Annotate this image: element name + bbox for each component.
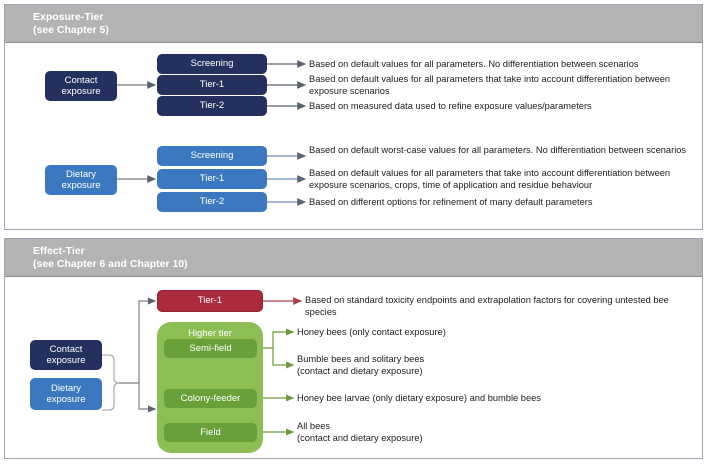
dietary-tier1-box[interactable]: Tier-1 — [157, 169, 267, 189]
contact-tier1-description: Based on default values for all paramete… — [309, 73, 701, 97]
effect-contact-exposure-box[interactable]: Contact exposure — [30, 340, 102, 370]
effect-tier-title: Effect-Tier — [33, 245, 188, 258]
semi-field-output-bumble-solitary-line2: (contact and dietary exposure) — [297, 365, 693, 377]
semi-field-label: Semi-field — [189, 343, 231, 355]
colony-feeder-box[interactable]: Colony-feeder — [164, 389, 257, 408]
colony-feeder-output: Honey bee larvae (only dietary exposure)… — [297, 392, 693, 404]
contact-tier2-box[interactable]: Tier-2 — [157, 96, 267, 116]
contact-exposure-label: Contact exposure — [61, 75, 100, 98]
colony-feeder-label: Colony-feeder — [181, 393, 241, 405]
semi-field-output-bumble-solitary: Bumble bees and solitary bees (contact a… — [297, 353, 693, 377]
field-box[interactable]: Field — [164, 423, 257, 442]
exposure-tier-header-text: Exposure-Tier (see Chapter 5) — [33, 11, 109, 37]
contact-exposure-box[interactable]: Contact exposure — [45, 71, 117, 101]
effect-tier-header: Effect-Tier (see Chapter 6 and Chapter 1… — [5, 239, 702, 277]
dietary-tier1-description: Based on default values for all paramete… — [309, 167, 701, 191]
dietary-exposure-box[interactable]: Dietary exposure — [45, 165, 117, 195]
effect-contact-exposure-label: Contact exposure — [46, 344, 85, 367]
contact-screening-box[interactable]: Screening — [157, 54, 267, 74]
dietary-screening-description: Based on default worst-case values for a… — [309, 144, 701, 156]
exposure-tier-subtitle: (see Chapter 5) — [33, 24, 109, 37]
dietary-tier2-box[interactable]: Tier-2 — [157, 192, 267, 212]
effect-tier-panel: Effect-Tier (see Chapter 6 and Chapter 1… — [4, 238, 703, 459]
contact-screening-description: Based on default values for all paramete… — [309, 58, 701, 70]
effect-tier-body: Contact exposure Dietary exposure Tier-1… — [5, 277, 702, 458]
semi-field-output-honeybees: Honey bees (only contact exposure) — [297, 326, 693, 338]
effect-tier1-box[interactable]: Tier-1 — [157, 290, 263, 312]
contact-tier2-label: Tier-2 — [200, 100, 224, 112]
field-output-line2: (contact and dietary exposure) — [297, 432, 693, 444]
dietary-tier1-label: Tier-1 — [200, 173, 224, 185]
effect-dietary-exposure-label: Dietary exposure — [46, 383, 85, 406]
contact-screening-label: Screening — [191, 58, 234, 70]
effect-dietary-exposure-box[interactable]: Dietary exposure — [30, 378, 102, 410]
semi-field-output-bumble-solitary-line1: Bumble bees and solitary bees — [297, 353, 693, 365]
field-output-line1: All bees — [297, 420, 693, 432]
field-output: All bees (contact and dietary exposure) — [297, 420, 693, 444]
dietary-screening-label: Screening — [191, 150, 234, 162]
contact-tier1-label: Tier-1 — [200, 79, 224, 91]
dietary-exposure-label: Dietary exposure — [61, 169, 100, 192]
contact-tier2-description: Based on measured data used to refine ex… — [309, 100, 701, 112]
effect-tier1-description: Based on standard toxicity endpoints and… — [305, 294, 701, 318]
exposure-tier-title: Exposure-Tier — [33, 11, 109, 24]
field-label: Field — [200, 427, 221, 439]
higher-tier-label: Higher tier — [157, 328, 263, 340]
semi-field-box[interactable]: Semi-field — [164, 339, 257, 358]
contact-tier1-box[interactable]: Tier-1 — [157, 75, 267, 95]
effect-tier1-label: Tier-1 — [198, 295, 222, 307]
exposure-tier-panel: Exposure-Tier (see Chapter 5) — [4, 4, 703, 230]
dietary-screening-box[interactable]: Screening — [157, 146, 267, 166]
dietary-tier2-description: Based on different options for refinemen… — [309, 196, 701, 208]
exposure-tier-body: Contact exposure Screening Tier-1 Tier-2… — [5, 43, 702, 229]
dietary-tier2-label: Tier-2 — [200, 196, 224, 208]
effect-tier-subtitle: (see Chapter 6 and Chapter 10) — [33, 258, 188, 271]
effect-tier-header-text: Effect-Tier (see Chapter 6 and Chapter 1… — [33, 245, 188, 271]
exposure-tier-header: Exposure-Tier (see Chapter 5) — [5, 5, 702, 43]
